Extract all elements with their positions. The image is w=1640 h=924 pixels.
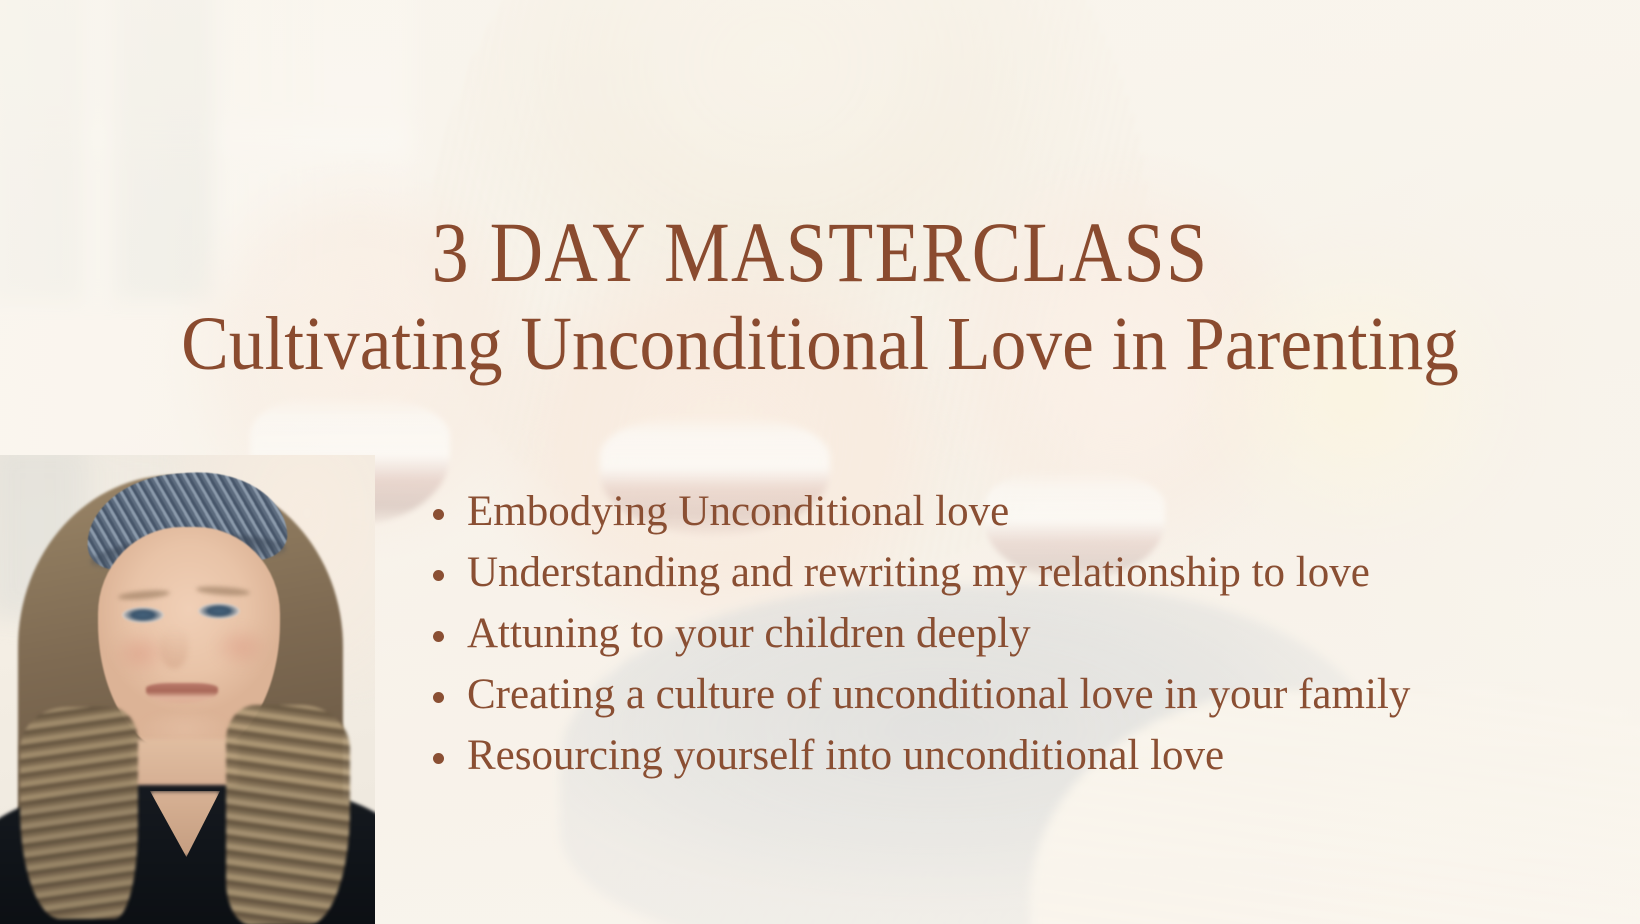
slide-title: 3 DAY MASTERCLASS [115,209,1525,295]
slide-subtitle: Cultivating Unconditional Love in Parent… [49,305,1591,385]
masterclass-slide: 3 DAY MASTERCLASS Cultivating Unconditio… [0,0,1640,924]
presenter-cheek-right [212,625,270,669]
presenter-eye-right [198,603,240,619]
list-item: Creating a culture of unconditional love… [425,665,1525,725]
list-item: Understanding and rewriting my relations… [425,543,1525,603]
list-item: Resourcing yourself into unconditional l… [425,726,1525,786]
list-item-label: Embodying Unconditional love [467,488,1009,535]
list-item-label: Attuning to your children deeply [467,610,1031,657]
presenter-nose [160,627,188,669]
presenter-eye-left [122,607,164,623]
presenter-photo [0,455,375,924]
presenter-hair-left [20,707,138,919]
list-item: Embodying Unconditional love [425,482,1525,542]
list-item-label: Creating a culture of unconditional love… [467,671,1410,718]
list-item-label: Understanding and rewriting my relations… [467,549,1370,596]
bullet-list: Embodying Unconditional love Understandi… [425,482,1525,787]
list-item: Attuning to your children deeply [425,604,1525,664]
list-item-label: Resourcing yourself into unconditional l… [467,732,1224,779]
presenter-hair-right [226,705,350,924]
